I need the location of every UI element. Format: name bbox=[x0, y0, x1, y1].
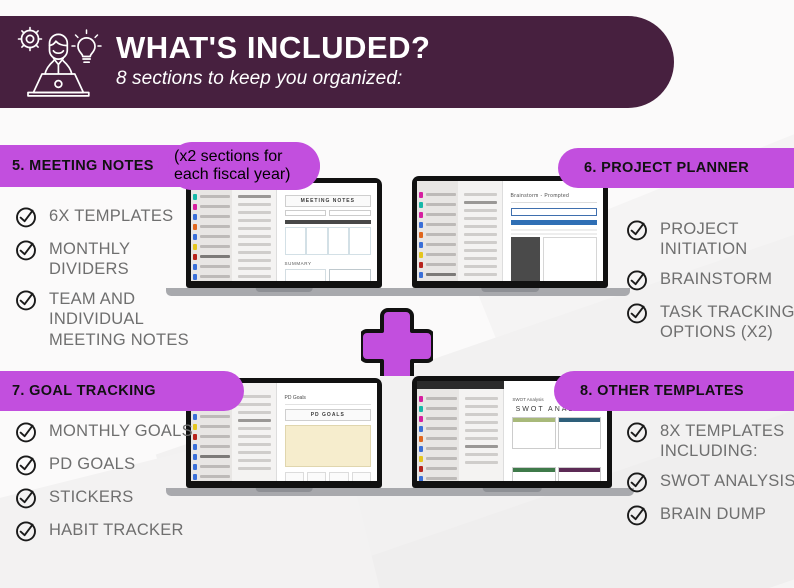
section-header-goal-tracking: 7. GOAL TRACKING bbox=[0, 371, 244, 411]
circled-checkmark-icon bbox=[625, 218, 649, 242]
circled-checkmark-icon bbox=[14, 238, 38, 262]
circled-checkmark-icon bbox=[14, 288, 38, 312]
list-item: BRAIN DUMP bbox=[625, 503, 794, 527]
section-header-other-templates: 8. OTHER TEMPLATES bbox=[554, 371, 794, 411]
mockup-page-list bbox=[459, 381, 505, 481]
list-item-label: TEAM AND INDIVIDUAL MEETING NOTES bbox=[49, 288, 204, 349]
circled-checkmark-icon bbox=[14, 205, 38, 229]
mockup-notebook-nav bbox=[417, 381, 459, 481]
feature-list-other-templates: 8X TEMPLATES INCLUDING: SWOT ANALYSIS BR… bbox=[625, 420, 794, 536]
list-item: TEAM AND INDIVIDUAL MEETING NOTES bbox=[14, 288, 204, 349]
feature-list-meeting-notes: 6X TEMPLATES MONTHLY DIVIDERS TEAM AND I… bbox=[14, 205, 204, 359]
laptop-base bbox=[390, 488, 634, 496]
list-item: TASK TRACKING OPTIONS (X2) bbox=[625, 301, 794, 342]
list-item-label: STICKERS bbox=[49, 486, 134, 507]
feature-list-goal-tracking: MONTHLY GOALS PD GOALS STICKERS bbox=[14, 420, 244, 552]
list-item: STICKERS bbox=[14, 486, 244, 510]
list-item: MONTHLY DIVIDERS bbox=[14, 238, 204, 279]
list-item: SWOT ANALYSIS bbox=[625, 470, 794, 494]
section-title-project-planner: 6. PROJECT PLANNER bbox=[584, 160, 749, 176]
section-title-goal-tracking: 7. GOAL TRACKING bbox=[12, 383, 156, 399]
circled-checkmark-icon bbox=[625, 301, 649, 325]
list-item-label: HABIT TRACKER bbox=[49, 519, 184, 540]
section-header-project-planner: 6. PROJECT PLANNER bbox=[558, 148, 794, 188]
list-item-label: 8X TEMPLATES INCLUDING: bbox=[660, 420, 794, 461]
list-item-label: PROJECT INITIATION bbox=[660, 218, 794, 259]
circled-checkmark-icon bbox=[14, 486, 38, 510]
section-title-meeting-notes: 5. MEETING NOTES bbox=[12, 158, 154, 174]
circled-checkmark-icon bbox=[625, 420, 649, 444]
person-at-laptop-with-gear-and-lightbulb-icon bbox=[10, 23, 106, 101]
list-item: PROJECT INITIATION bbox=[625, 218, 794, 259]
list-item: 8X TEMPLATES INCLUDING: bbox=[625, 420, 794, 461]
feature-list-project-planner: PROJECT INITIATION BRAINSTORM TASK TRACK… bbox=[625, 218, 794, 352]
mockup-notebook-nav bbox=[417, 181, 458, 281]
laptop-base bbox=[390, 288, 630, 296]
section-note-meeting-notes: (x2 sections for each fiscal year) bbox=[168, 142, 320, 190]
list-item: HABIT TRACKER bbox=[14, 519, 244, 543]
page-subtitle: 8 sections to keep you organized: bbox=[116, 67, 430, 92]
list-item: BRAINSTORM bbox=[625, 268, 794, 292]
mockup-doc-section-label: PD Goals bbox=[285, 395, 371, 401]
plus-icon bbox=[361, 304, 433, 376]
list-item: PD GOALS bbox=[14, 453, 244, 477]
circled-checkmark-icon bbox=[625, 503, 649, 527]
laptop-mockup-meeting-notes: MEETING NOTES SUMMARY bbox=[186, 178, 382, 288]
list-item-label: MONTHLY GOALS bbox=[49, 420, 193, 441]
page-title: WHAT'S INCLUDED? bbox=[116, 32, 430, 64]
header-banner: WHAT'S INCLUDED? 8 sections to keep you … bbox=[0, 16, 674, 108]
mockup-doc-section-label: SUMMARY bbox=[285, 261, 371, 266]
mockup-doc-title: MEETING NOTES bbox=[285, 195, 371, 207]
laptop-mockup-project-planner: Brainstorm - Prompted bbox=[412, 176, 608, 288]
mockup-document-meeting-notes: MEETING NOTES SUMMARY bbox=[277, 183, 377, 281]
mockup-page-list bbox=[232, 183, 277, 281]
circled-checkmark-icon bbox=[14, 453, 38, 477]
list-item: MONTHLY GOALS bbox=[14, 420, 244, 444]
section-title-other-templates: 8. OTHER TEMPLATES bbox=[580, 383, 744, 399]
list-item-label: 6X TEMPLATES bbox=[49, 205, 173, 226]
circled-checkmark-icon bbox=[14, 420, 38, 444]
list-item-label: BRAIN DUMP bbox=[660, 503, 766, 524]
list-item-label: SWOT ANALYSIS bbox=[660, 470, 794, 491]
circled-checkmark-icon bbox=[625, 470, 649, 494]
mockup-doc-section-label: Brainstorm - Prompted bbox=[511, 193, 597, 199]
mockup-page-list bbox=[458, 181, 503, 281]
list-item-label: BRAINSTORM bbox=[660, 268, 772, 289]
list-item-label: TASK TRACKING OPTIONS (X2) bbox=[660, 301, 794, 342]
mockup-doc-title: PD GOALS bbox=[285, 409, 371, 421]
list-item-label: MONTHLY DIVIDERS bbox=[49, 238, 204, 279]
circled-checkmark-icon bbox=[625, 268, 649, 292]
circled-checkmark-icon bbox=[14, 519, 38, 543]
list-item: 6X TEMPLATES bbox=[14, 205, 204, 229]
mockup-document-goal-tracking: PD Goals PD GOALS bbox=[277, 383, 377, 481]
section-note-text: (x2 sections for each fiscal year) bbox=[168, 148, 320, 184]
list-item-label: PD GOALS bbox=[49, 453, 135, 474]
mockup-document-project-planner: Brainstorm - Prompted bbox=[503, 181, 603, 281]
poster-canvas: WHAT'S INCLUDED? 8 sections to keep you … bbox=[0, 0, 794, 588]
